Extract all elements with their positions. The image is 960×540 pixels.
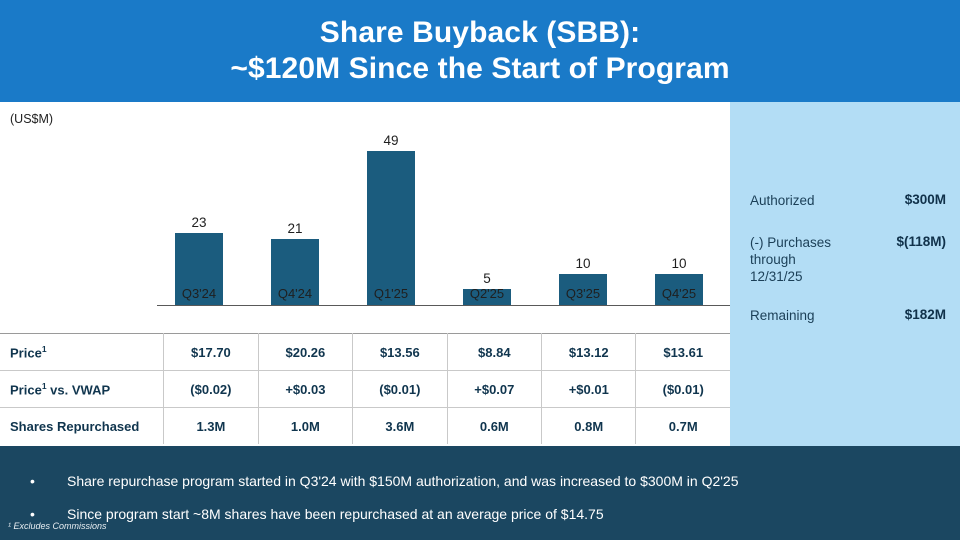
category-label: Q3'25 <box>545 286 621 301</box>
table-cell: +$0.01 <box>542 371 636 408</box>
table-cell: ($0.01) <box>353 371 448 408</box>
table-cell: 1.0M <box>258 408 352 445</box>
table-cell: $13.61 <box>636 334 730 371</box>
bar-value-label: 5 <box>449 271 525 286</box>
category-label: Q2'25 <box>449 286 525 301</box>
bullet-text: Since program start ~8M shares have been… <box>67 506 604 522</box>
panel-row: Authorized$300M <box>750 192 946 209</box>
bullet-text: Share repurchase program started in Q3'2… <box>67 473 739 489</box>
table-cell: ($0.02) <box>164 371 259 408</box>
table-body: Price1$17.70$20.26$13.56$8.84$13.12$13.6… <box>0 334 730 445</box>
table-row: Price1 vs. VWAP($0.02)+$0.03($0.01)+$0.0… <box>0 371 730 408</box>
bar-value-label: 49 <box>353 133 429 148</box>
table-cell: 3.6M <box>353 408 448 445</box>
panel-row-label: Authorized <box>750 192 815 209</box>
table-cell: 0.6M <box>447 408 541 445</box>
bar-chart: 23Q3'2421Q4'2449Q1'255Q2'2510Q3'2510Q4'2… <box>0 102 730 334</box>
table-cell: +$0.03 <box>258 371 352 408</box>
table-cell: +$0.07 <box>447 371 541 408</box>
row-label: Shares Repurchased <box>0 408 164 445</box>
chart-axis-line <box>157 305 730 307</box>
category-label: Q4'25 <box>641 286 717 301</box>
bullet-dot-icon: • <box>30 473 35 489</box>
table-cell: $8.84 <box>447 334 541 371</box>
table-cell: ($0.01) <box>636 371 730 408</box>
bar-group: 23Q3'24 <box>175 233 223 305</box>
slide-header: Share Buyback (SBB): ~$120M Since the St… <box>0 0 960 102</box>
quarterly-metrics-table: Price1$17.70$20.26$13.56$8.84$13.12$13.6… <box>0 333 730 444</box>
slide-root: Share Buyback (SBB): ~$120M Since the St… <box>0 0 960 540</box>
row-label: Price1 vs. VWAP <box>0 371 164 408</box>
bar-group: 49Q1'25 <box>367 151 415 305</box>
bar-group: 10Q4'25 <box>655 274 703 305</box>
panel-row: Remaining$182M <box>750 307 946 324</box>
bar-value-label: 23 <box>161 215 237 230</box>
table-cell: 0.7M <box>636 408 730 445</box>
authorization-summary-panel: Authorized$300M(-) Purchases through 12/… <box>730 102 960 446</box>
panel-row-label: Remaining <box>750 307 815 324</box>
panel-row-value: $300M <box>905 192 946 207</box>
panel-row-value: $(118M) <box>896 234 946 249</box>
bar-group: 5Q2'25 <box>463 289 511 305</box>
category-label: Q4'24 <box>257 286 333 301</box>
row-label: Price1 <box>0 334 164 371</box>
panel-row-value: $182M <box>905 307 946 322</box>
footnote: ¹ Excludes Commissions <box>8 521 107 531</box>
table-cell: $17.70 <box>164 334 259 371</box>
panel-row-label: (-) Purchases through 12/31/25 <box>750 234 831 285</box>
page-title: Share Buyback (SBB): ~$120M Since the St… <box>230 15 729 87</box>
category-label: Q3'24 <box>161 286 237 301</box>
bar-value-label: 10 <box>641 256 717 271</box>
panel-row: (-) Purchases through 12/31/25$(118M) <box>750 234 946 285</box>
bar-group: 21Q4'24 <box>271 239 319 305</box>
bar-value-label: 10 <box>545 256 621 271</box>
bar-group: 10Q3'25 <box>559 274 607 305</box>
bar <box>367 151 415 305</box>
table-cell: $13.56 <box>353 334 448 371</box>
table-cell: 0.8M <box>542 408 636 445</box>
footnote-marker: 1 <box>42 344 47 354</box>
table-cell: 1.3M <box>164 408 259 445</box>
table-row: Shares Repurchased1.3M1.0M3.6M0.6M0.8M0.… <box>0 408 730 445</box>
footnote-marker: 1 <box>42 381 47 391</box>
bar-value-label: 21 <box>257 221 333 236</box>
table-row: Price1$17.70$20.26$13.56$8.84$13.12$13.6… <box>0 334 730 371</box>
table-cell: $13.12 <box>542 334 636 371</box>
category-label: Q1'25 <box>353 286 429 301</box>
bottom-notes-band: •Share repurchase program started in Q3'… <box>0 446 960 540</box>
bullet-dot-icon: • <box>30 506 35 522</box>
table-cell: $20.26 <box>258 334 352 371</box>
